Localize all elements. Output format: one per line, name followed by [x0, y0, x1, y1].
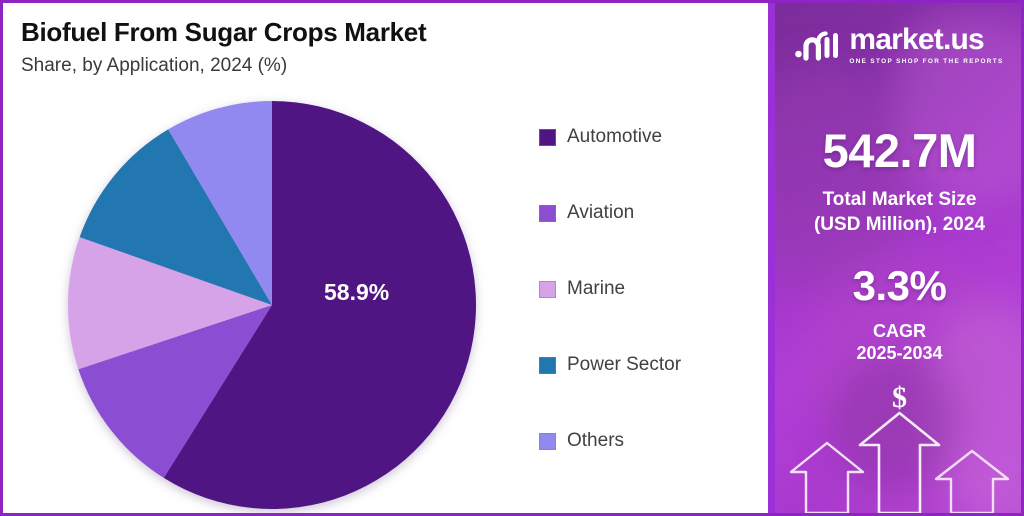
legend-swatch-icon — [539, 357, 556, 374]
legend-item-label: Automotive — [567, 126, 662, 148]
legend-swatch-icon — [539, 281, 556, 298]
cagr-value: 3.3% — [775, 262, 1024, 310]
logo-wordmark: market.us — [849, 25, 984, 55]
legend-item-label: Aviation — [567, 202, 634, 224]
panel-divider — [768, 3, 775, 513]
legend-item-label: Marine — [567, 278, 625, 300]
market-size-label-line-1: Total Market Size — [775, 189, 1024, 211]
brand-logo[interactable]: market.us ONE STOP SHOP FOR THE REPORTS — [775, 21, 1024, 69]
legend-item-automotive[interactable]: Automotive — [539, 125, 754, 149]
legend-item-others[interactable]: Others — [539, 429, 754, 453]
market-us-logo-icon — [795, 28, 841, 62]
legend-swatch-icon — [539, 205, 556, 222]
dollar-sign-icon: $ — [775, 381, 1024, 415]
pie-slice-value-label: 58.9% — [324, 279, 389, 306]
legend-item-power-sector[interactable]: Power Sector — [539, 353, 754, 377]
legend-item-label: Others — [567, 430, 624, 452]
pie-chart-svg — [66, 99, 478, 511]
logo-text: market.us ONE STOP SHOP FOR THE REPORTS — [849, 25, 1003, 65]
pie-chart: 58.9% — [66, 99, 478, 511]
market-size-value: 542.7M — [775, 123, 1024, 178]
infographic-page: Biofuel From Sugar Crops Market Share, b… — [0, 0, 1024, 516]
up-arrow-icon — [936, 451, 1008, 513]
page-title: Biofuel From Sugar Crops Market — [21, 17, 426, 48]
cagr-label: CAGR — [775, 321, 1024, 342]
background-blob — [775, 63, 915, 293]
market-size-label-line-2: (USD Million), 2024 — [775, 214, 1024, 236]
legend-item-marine[interactable]: Marine — [539, 277, 754, 301]
legend-item-label: Power Sector — [567, 354, 681, 376]
legend-swatch-icon — [539, 433, 556, 450]
legend-swatch-icon — [539, 129, 556, 146]
stats-panel: market.us ONE STOP SHOP FOR THE REPORTS … — [775, 3, 1024, 513]
logo-tagline: ONE STOP SHOP FOR THE REPORTS — [849, 58, 1003, 65]
chart-panel: Biofuel From Sugar Crops Market Share, b… — [3, 3, 768, 513]
chart-legend: Automotive Aviation Marine Power Sector … — [539, 125, 754, 453]
up-arrow-icon — [791, 443, 863, 513]
chart-subtitle: Share, by Application, 2024 (%) — [21, 55, 287, 77]
cagr-period: 2025-2034 — [775, 343, 1024, 364]
legend-item-aviation[interactable]: Aviation — [539, 201, 754, 225]
growth-arrows-graphic: $ — [775, 373, 1024, 513]
up-arrow-icon — [860, 413, 939, 513]
